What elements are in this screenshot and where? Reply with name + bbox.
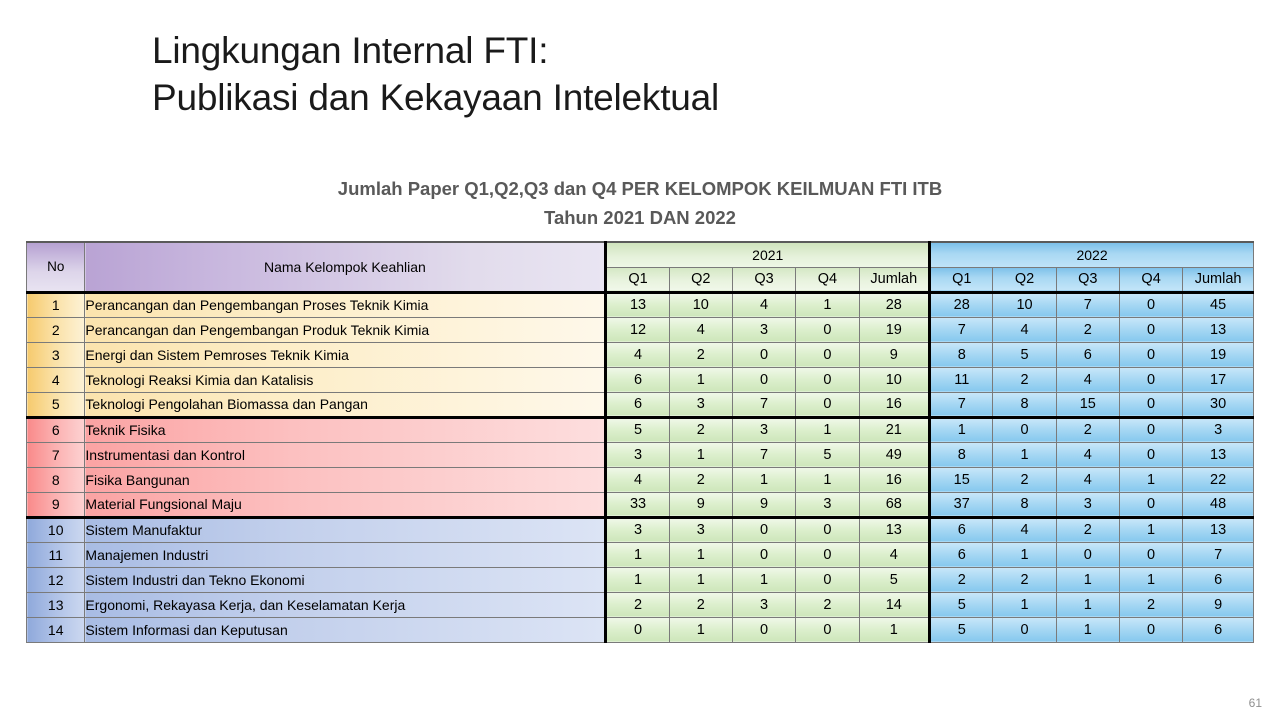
cell-2022-q1: 37 <box>930 492 993 517</box>
column-header-2022-q2: Q2 <box>993 267 1056 292</box>
cell-2021-q2: 1 <box>669 367 732 392</box>
cell-expertise-group-name: Perancangan dan Pengembangan Produk Tekn… <box>85 317 606 342</box>
cell-expertise-group-name: Manajemen Industri <box>85 542 606 567</box>
cell-2021-q1: 6 <box>606 392 669 417</box>
cell-2022-q4: 0 <box>1119 392 1182 417</box>
cell-2022-q3: 3 <box>1056 492 1119 517</box>
cell-expertise-group-name: Material Fungsional Maju <box>85 492 606 517</box>
cell-2021-q2: 1 <box>669 617 732 642</box>
cell-2021-q4: 1 <box>796 467 859 492</box>
table-row: 6Teknik Fisika52312110203 <box>27 417 1254 442</box>
cell-expertise-group-name: Energi dan Sistem Pemroses Teknik Kimia <box>85 342 606 367</box>
cell-2021-q4: 1 <box>796 292 859 317</box>
cell-2022-jumlah: 17 <box>1183 367 1254 392</box>
cell-2022-q4: 0 <box>1119 617 1182 642</box>
cell-expertise-group-name: Teknologi Pengolahan Biomassa dan Pangan <box>85 392 606 417</box>
cell-2021-q2: 2 <box>669 592 732 617</box>
table-heading-line-2: Tahun 2021 DAN 2022 <box>0 205 1280 232</box>
cell-2022-jumlah: 3 <box>1183 417 1254 442</box>
cell-2021-q2: 1 <box>669 442 732 467</box>
page-title-line-2: Publikasi dan Kekayaan Intelektual <box>152 75 1112 122</box>
cell-2021-q4: 0 <box>796 517 859 542</box>
cell-2022-q4: 2 <box>1119 592 1182 617</box>
cell-2022-q2: 10 <box>993 292 1056 317</box>
cell-2021-q4: 0 <box>796 317 859 342</box>
cell-2021-q3: 0 <box>732 542 795 567</box>
table-row: 9Material Fungsional Maju33993683783048 <box>27 492 1254 517</box>
cell-2021-q3: 1 <box>732 567 795 592</box>
cell-2022-q1: 7 <box>930 317 993 342</box>
cell-2022-jumlah: 13 <box>1183 442 1254 467</box>
cell-2022-q2: 4 <box>993 317 1056 342</box>
cell-no: 3 <box>27 342 85 367</box>
cell-expertise-group-name: Ergonomi, Rekayasa Kerja, dan Keselamata… <box>85 592 606 617</box>
table-header-row-top: No Nama Kelompok Keahlian 2021 2022 <box>27 242 1254 267</box>
table-heading: Jumlah Paper Q1,Q2,Q3 dan Q4 PER KELOMPO… <box>0 176 1280 232</box>
cell-2021-q3: 3 <box>732 592 795 617</box>
cell-2022-q3: 4 <box>1056 442 1119 467</box>
cell-2021-q1: 6 <box>606 367 669 392</box>
cell-expertise-group-name: Teknik Fisika <box>85 417 606 442</box>
cell-no: 7 <box>27 442 85 467</box>
table-body: 1Perancangan dan Pengembangan Proses Tek… <box>27 292 1254 642</box>
cell-2021-q2: 3 <box>669 392 732 417</box>
table-row: 10Sistem Manufaktur330013642113 <box>27 517 1254 542</box>
cell-2021-q1: 1 <box>606 567 669 592</box>
cell-2022-q3: 4 <box>1056 467 1119 492</box>
cell-2021-jumlah: 28 <box>859 292 930 317</box>
cell-2022-jumlah: 6 <box>1183 617 1254 642</box>
cell-2022-q1: 28 <box>930 292 993 317</box>
table-row: 8Fisika Bangunan4211161524122 <box>27 467 1254 492</box>
table-row: 5Teknologi Pengolahan Biomassa dan Panga… <box>27 392 1254 417</box>
cell-2021-q4: 3 <box>796 492 859 517</box>
cell-2021-jumlah: 9 <box>859 342 930 367</box>
cell-2022-q3: 2 <box>1056 417 1119 442</box>
cell-2022-q2: 1 <box>993 542 1056 567</box>
cell-2022-q2: 2 <box>993 567 1056 592</box>
cell-2021-q4: 0 <box>796 617 859 642</box>
cell-2022-jumlah: 30 <box>1183 392 1254 417</box>
cell-2021-q4: 0 <box>796 542 859 567</box>
table-row: 4Teknologi Reaksi Kimia dan Katalisis610… <box>27 367 1254 392</box>
publication-table: No Nama Kelompok Keahlian 2021 2022 Q1 Q… <box>26 241 1254 643</box>
cell-2021-q4: 1 <box>796 417 859 442</box>
cell-expertise-group-name: Sistem Manufaktur <box>85 517 606 542</box>
cell-no: 12 <box>27 567 85 592</box>
cell-2022-q4: 0 <box>1119 542 1182 567</box>
cell-no: 2 <box>27 317 85 342</box>
cell-expertise-group-name: Fisika Bangunan <box>85 467 606 492</box>
cell-2022-q4: 0 <box>1119 317 1182 342</box>
cell-2022-q1: 15 <box>930 467 993 492</box>
column-header-2021-jumlah: Jumlah <box>859 267 930 292</box>
cell-2021-jumlah: 68 <box>859 492 930 517</box>
column-header-name: Nama Kelompok Keahlian <box>85 242 606 292</box>
cell-2022-q1: 6 <box>930 542 993 567</box>
cell-2022-q2: 2 <box>993 367 1056 392</box>
cell-2022-q3: 15 <box>1056 392 1119 417</box>
cell-2022-q1: 8 <box>930 442 993 467</box>
cell-2022-q2: 2 <box>993 467 1056 492</box>
cell-2022-q2: 0 <box>993 417 1056 442</box>
cell-2022-jumlah: 13 <box>1183 517 1254 542</box>
cell-no: 5 <box>27 392 85 417</box>
cell-2021-q3: 0 <box>732 617 795 642</box>
cell-no: 9 <box>27 492 85 517</box>
cell-2021-q3: 7 <box>732 442 795 467</box>
cell-2022-q2: 0 <box>993 617 1056 642</box>
cell-2021-q3: 9 <box>732 492 795 517</box>
cell-2021-jumlah: 16 <box>859 467 930 492</box>
cell-2022-q3: 0 <box>1056 542 1119 567</box>
cell-2022-q1: 5 <box>930 617 993 642</box>
cell-no: 6 <box>27 417 85 442</box>
table-row: 11Manajemen Industri1100461007 <box>27 542 1254 567</box>
column-header-2021-q4: Q4 <box>796 267 859 292</box>
slide-page-number: 61 <box>1249 696 1262 710</box>
cell-2021-q1: 13 <box>606 292 669 317</box>
cell-expertise-group-name: Perancangan dan Pengembangan Proses Tekn… <box>85 292 606 317</box>
cell-2022-jumlah: 19 <box>1183 342 1254 367</box>
cell-2022-q4: 0 <box>1119 442 1182 467</box>
cell-2021-q1: 2 <box>606 592 669 617</box>
cell-2021-jumlah: 4 <box>859 542 930 567</box>
cell-2021-jumlah: 10 <box>859 367 930 392</box>
cell-no: 13 <box>27 592 85 617</box>
cell-2021-jumlah: 13 <box>859 517 930 542</box>
cell-2021-jumlah: 19 <box>859 317 930 342</box>
cell-2022-q1: 2 <box>930 567 993 592</box>
cell-2021-q2: 1 <box>669 542 732 567</box>
cell-2021-q3: 0 <box>732 342 795 367</box>
column-header-no: No <box>27 242 85 292</box>
cell-2021-jumlah: 1 <box>859 617 930 642</box>
column-header-2022-q1: Q1 <box>930 267 993 292</box>
cell-2021-q1: 0 <box>606 617 669 642</box>
cell-no: 10 <box>27 517 85 542</box>
column-header-2021-q1: Q1 <box>606 267 669 292</box>
cell-2022-q4: 1 <box>1119 567 1182 592</box>
column-header-2021-q2: Q2 <box>669 267 732 292</box>
cell-2021-q4: 0 <box>796 342 859 367</box>
cell-2022-q4: 0 <box>1119 492 1182 517</box>
table-row: 3Energi dan Sistem Pemroses Teknik Kimia… <box>27 342 1254 367</box>
cell-2021-jumlah: 16 <box>859 392 930 417</box>
cell-2022-q1: 1 <box>930 417 993 442</box>
cell-2021-q3: 0 <box>732 517 795 542</box>
cell-2022-q4: 1 <box>1119 517 1182 542</box>
cell-2021-q1: 3 <box>606 442 669 467</box>
table-row: 13Ergonomi, Rekayasa Kerja, dan Keselama… <box>27 592 1254 617</box>
cell-2021-q1: 33 <box>606 492 669 517</box>
cell-2021-q3: 3 <box>732 417 795 442</box>
table-row: 7Instrumentasi dan Kontrol317549814013 <box>27 442 1254 467</box>
cell-2022-q3: 7 <box>1056 292 1119 317</box>
cell-2022-q3: 1 <box>1056 567 1119 592</box>
cell-2021-q2: 3 <box>669 517 732 542</box>
cell-2021-q2: 2 <box>669 417 732 442</box>
cell-2021-q3: 4 <box>732 292 795 317</box>
column-header-2022-jumlah: Jumlah <box>1183 267 1254 292</box>
cell-2022-q1: 6 <box>930 517 993 542</box>
cell-2021-jumlah: 5 <box>859 567 930 592</box>
cell-expertise-group-name: Teknologi Reaksi Kimia dan Katalisis <box>85 367 606 392</box>
cell-2021-q1: 4 <box>606 467 669 492</box>
cell-2021-q4: 0 <box>796 392 859 417</box>
table-heading-line-1: Jumlah Paper Q1,Q2,Q3 dan Q4 PER KELOMPO… <box>0 176 1280 203</box>
cell-2021-jumlah: 49 <box>859 442 930 467</box>
cell-2022-q3: 1 <box>1056 592 1119 617</box>
cell-2022-q2: 8 <box>993 392 1056 417</box>
cell-2021-q3: 3 <box>732 317 795 342</box>
cell-2022-jumlah: 22 <box>1183 467 1254 492</box>
cell-2021-q2: 9 <box>669 492 732 517</box>
cell-2022-q2: 4 <box>993 517 1056 542</box>
cell-expertise-group-name: Sistem Industri dan Tekno Ekonomi <box>85 567 606 592</box>
cell-2022-jumlah: 45 <box>1183 292 1254 317</box>
cell-2022-q4: 0 <box>1119 367 1182 392</box>
cell-2022-q1: 11 <box>930 367 993 392</box>
table-row: 12Sistem Industri dan Tekno Ekonomi11105… <box>27 567 1254 592</box>
table-row: 1Perancangan dan Pengembangan Proses Tek… <box>27 292 1254 317</box>
table-row: 14Sistem Informasi dan Keputusan01001501… <box>27 617 1254 642</box>
cell-expertise-group-name: Sistem Informasi dan Keputusan <box>85 617 606 642</box>
cell-2022-q3: 1 <box>1056 617 1119 642</box>
cell-no: 8 <box>27 467 85 492</box>
cell-2021-q1: 5 <box>606 417 669 442</box>
cell-2021-q4: 0 <box>796 567 859 592</box>
cell-2021-q4: 5 <box>796 442 859 467</box>
cell-2022-q4: 0 <box>1119 417 1182 442</box>
cell-2022-q4: 1 <box>1119 467 1182 492</box>
cell-no: 11 <box>27 542 85 567</box>
cell-2021-q3: 0 <box>732 367 795 392</box>
cell-expertise-group-name: Instrumentasi dan Kontrol <box>85 442 606 467</box>
column-header-year-2021: 2021 <box>606 242 930 267</box>
cell-2021-q2: 10 <box>669 292 732 317</box>
cell-no: 4 <box>27 367 85 392</box>
cell-2022-q2: 1 <box>993 592 1056 617</box>
cell-2022-q2: 5 <box>993 342 1056 367</box>
cell-2021-jumlah: 21 <box>859 417 930 442</box>
column-header-2022-q3: Q3 <box>1056 267 1119 292</box>
cell-2021-q1: 3 <box>606 517 669 542</box>
cell-2022-q3: 4 <box>1056 367 1119 392</box>
cell-2022-q1: 5 <box>930 592 993 617</box>
cell-2022-jumlah: 9 <box>1183 592 1254 617</box>
cell-2021-q2: 2 <box>669 342 732 367</box>
cell-2022-q2: 8 <box>993 492 1056 517</box>
cell-2022-q3: 2 <box>1056 317 1119 342</box>
column-header-2021-q3: Q3 <box>732 267 795 292</box>
cell-no: 14 <box>27 617 85 642</box>
column-header-year-2022: 2022 <box>930 242 1254 267</box>
cell-2021-q4: 0 <box>796 367 859 392</box>
cell-2022-q1: 7 <box>930 392 993 417</box>
cell-2022-q4: 0 <box>1119 292 1182 317</box>
cell-2021-q1: 4 <box>606 342 669 367</box>
cell-2021-q2: 1 <box>669 567 732 592</box>
cell-2021-q3: 7 <box>732 392 795 417</box>
cell-2021-q4: 2 <box>796 592 859 617</box>
cell-2022-jumlah: 13 <box>1183 317 1254 342</box>
column-header-2022-q4: Q4 <box>1119 267 1182 292</box>
cell-2022-q3: 2 <box>1056 517 1119 542</box>
cell-2022-q2: 1 <box>993 442 1056 467</box>
cell-2022-jumlah: 48 <box>1183 492 1254 517</box>
table-row: 2Perancangan dan Pengembangan Produk Tek… <box>27 317 1254 342</box>
cell-2021-q1: 12 <box>606 317 669 342</box>
cell-2022-q4: 0 <box>1119 342 1182 367</box>
cell-2022-jumlah: 7 <box>1183 542 1254 567</box>
cell-2021-q1: 1 <box>606 542 669 567</box>
cell-2021-q2: 4 <box>669 317 732 342</box>
cell-2022-q3: 6 <box>1056 342 1119 367</box>
page-title-line-1: Lingkungan Internal FTI: <box>152 28 1112 75</box>
page-title: Lingkungan Internal FTI: Publikasi dan K… <box>152 28 1112 122</box>
cell-2021-q2: 2 <box>669 467 732 492</box>
cell-2021-jumlah: 14 <box>859 592 930 617</box>
cell-no: 1 <box>27 292 85 317</box>
cell-2022-jumlah: 6 <box>1183 567 1254 592</box>
cell-2021-q3: 1 <box>732 467 795 492</box>
cell-2022-q1: 8 <box>930 342 993 367</box>
